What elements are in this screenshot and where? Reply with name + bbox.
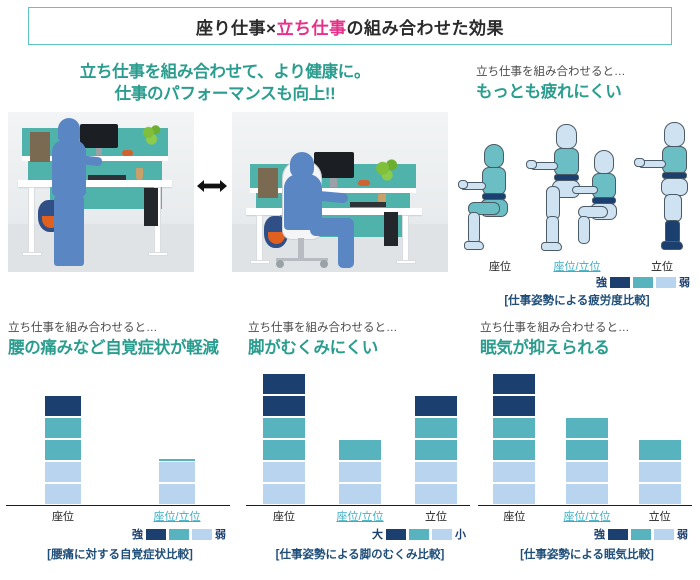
bar-segment [339, 462, 381, 484]
chart-sleepiness-axis [478, 505, 692, 507]
bar-segment [493, 440, 535, 462]
desk-leg-left [28, 187, 35, 255]
bar-segment [566, 484, 608, 506]
desk-foot-left [22, 252, 42, 256]
legend-high-label: 大 [372, 526, 383, 542]
mannequin-foot [541, 242, 562, 251]
legend-swatch-navy [386, 529, 406, 540]
bar-segment [415, 462, 457, 484]
page-title-suffix: の組み合わせた効果 [346, 19, 504, 38]
fatigue-legend-strong: 強 [596, 274, 607, 290]
fatigue-label-sitstand: 座位/立位 [536, 258, 618, 274]
mannequin-arm [572, 186, 598, 194]
legend-swatch-light [192, 529, 212, 540]
bar-segment [263, 418, 305, 440]
mannequin-head [484, 144, 504, 168]
hero-headline-line1: 立ち仕事を組み合わせて、より健康に。 [10, 62, 440, 84]
bar-column [339, 368, 381, 506]
chart-lowerback-legend: 強 弱 [132, 526, 226, 542]
chart-swelling-caption-wrap: [仕事姿勢による脚のむくみ比較] [246, 546, 474, 562]
mannequin-torso [662, 146, 687, 174]
chart-swelling-bars [246, 368, 474, 506]
bar-segment [263, 396, 305, 418]
chart-sleepiness: 立ち仕事を組み合わせると… 眠気が抑えられる 座位座位/立位立位 強 弱 [仕事… [478, 320, 696, 576]
fatigue-heading: 立ち仕事を組み合わせると… もっとも疲れにくい [476, 64, 696, 103]
legend-high-label: 強 [132, 526, 143, 542]
bar-segment [566, 418, 608, 440]
bar-column [566, 368, 608, 506]
chart-swelling-plot [246, 368, 474, 506]
sitting-desk-photo [232, 112, 448, 272]
legend-low-label: 弱 [215, 526, 226, 542]
mannequin-shin [468, 212, 480, 244]
chart-swelling-heading: 立ち仕事を組み合わせると… 脚がむくみにくい [248, 320, 476, 359]
mannequin-thigh [546, 186, 560, 220]
bar-axis-label: 立位 [625, 508, 695, 524]
chart-lowerback: 立ち仕事を組み合わせると… 腰の痛みなど自覚症状が軽減 座位座位/立位 強 弱 … [6, 320, 234, 576]
legend-low-label: 弱 [677, 526, 688, 542]
bar-segment [45, 462, 81, 484]
standing-person-legs [54, 194, 84, 266]
bar-column [159, 368, 195, 506]
bar-segment [566, 440, 608, 462]
legend-swatch-navy [608, 529, 628, 540]
standing-desk-photo [8, 112, 194, 272]
bar-axis-label: 座位/立位 [325, 508, 395, 524]
chart-sleepiness-title: 眠気が抑えられる [480, 337, 698, 359]
legend-swatch-teal [633, 277, 653, 288]
bar-segment [263, 462, 305, 484]
chart-sleepiness-bars [478, 368, 696, 506]
legend-low-label: 小 [455, 526, 466, 542]
fatigue-axis-labels: 座位 座位/立位 立位 [458, 258, 696, 274]
mannequin-foot [661, 241, 683, 250]
bar-axis-label: 座位 [479, 508, 549, 524]
chart-sleepiness-heading: 立ち仕事を組み合わせると… 眠気が抑えられる [480, 320, 698, 359]
legend-swatch-light [654, 529, 674, 540]
page-title-bar: 座り仕事×立ち仕事の組み合わせた効果 [28, 7, 672, 45]
plant [372, 156, 400, 184]
chart-lowerback-axis [6, 505, 230, 507]
bar-stack [339, 440, 381, 506]
decor-object [122, 150, 133, 156]
fatigue-label-sitting: 座位 [470, 258, 530, 274]
file-box [258, 168, 278, 198]
bar-segment [159, 484, 195, 506]
chart-swelling-caption: [仕事姿勢による脚のむくみ比較] [246, 546, 474, 562]
pc-tower [384, 212, 398, 246]
bar-segment [159, 462, 195, 484]
bar-segment [45, 396, 81, 418]
chart-lowerback-caption-wrap: [腰痛に対する自覚症状比較] [6, 546, 234, 562]
coffee-cup [136, 168, 143, 180]
legend-swatch-teal [169, 529, 189, 540]
mannequin-hand [526, 160, 537, 169]
fatigue-lead: 立ち仕事を組み合わせると… [476, 64, 696, 81]
chart-lowerback-caption: [腰痛に対する自覚症状比較] [6, 546, 234, 562]
bar-axis-label: 立位 [401, 508, 471, 524]
bar-stack [639, 440, 681, 506]
desk-foot-left [250, 260, 270, 264]
chart-swelling-ticks: 座位座位/立位立位 [246, 508, 474, 524]
desk-leg-left [256, 215, 263, 263]
bar-segment [45, 418, 81, 440]
legend-swatch-teal [631, 529, 651, 540]
fatigue-legend-weak: 弱 [679, 274, 690, 290]
bar-axis-label: 座位/立位 [142, 508, 212, 524]
mannequin-hand [634, 158, 645, 167]
mannequin-hand [458, 180, 468, 189]
chart-sleepiness-caption-wrap: [仕事姿勢による眠気比較] [478, 546, 696, 562]
mannequin-standing [648, 122, 700, 254]
legend-swatch-navy [610, 277, 630, 288]
legend-swatch-light [656, 277, 676, 288]
bar-segment [639, 484, 681, 506]
plant [138, 122, 164, 148]
bar-stack [415, 396, 457, 506]
mannequin-torso [482, 167, 506, 195]
keyboard [88, 175, 126, 180]
desk-foot-right [396, 260, 416, 264]
bar-segment [415, 440, 457, 462]
chair-pole [298, 238, 304, 258]
seated-person-shin [338, 228, 354, 268]
chart-swelling-lead: 立ち仕事を組み合わせると… [248, 320, 476, 337]
bar-segment [639, 440, 681, 462]
legend-high-label: 強 [594, 526, 605, 542]
chart-swelling-title: 脚がむくみにくい [248, 337, 476, 359]
bar-segment [493, 484, 535, 506]
fatigue-caption: [仕事姿勢による疲労度比較] [458, 292, 696, 308]
fatigue-title: もっとも疲れにくい [476, 81, 696, 103]
fatigue-caption-wrap: [仕事姿勢による疲労度比較] [458, 292, 696, 308]
pc-tower [144, 188, 158, 226]
monitor [80, 124, 118, 148]
chart-lowerback-lead: 立ち仕事を組み合わせると… [8, 320, 236, 337]
desk-leg-right [402, 215, 409, 263]
chart-swelling-axis [246, 505, 470, 507]
legend-swatch-teal [409, 529, 429, 540]
bar-column [639, 368, 681, 506]
bar-segment [493, 374, 535, 396]
bar-segment [339, 440, 381, 462]
bar-segment [493, 462, 535, 484]
bar-segment [415, 484, 457, 506]
bar-axis-label: 座位/立位 [552, 508, 622, 524]
page-title: 座り仕事×立ち仕事の組み合わせた効果 [196, 14, 504, 39]
bar-segment [415, 396, 457, 418]
bar-axis-label: 座位 [28, 508, 98, 524]
desk-foot-right [148, 252, 168, 256]
mannequin-foot [464, 241, 484, 250]
keyboard [350, 202, 386, 207]
monitor-stand [330, 178, 337, 187]
mannequin-head [556, 124, 577, 149]
page-title-prefix: 座り仕事× [196, 19, 276, 38]
standing-person-body [52, 140, 86, 196]
bar-segment [263, 374, 305, 396]
swap-arrow [196, 176, 228, 196]
bar-stack [45, 396, 81, 506]
fatigue-figure-stage [458, 112, 696, 254]
bar-segment [263, 440, 305, 462]
chart-lowerback-bars [6, 368, 234, 506]
fatigue-legend: 強 弱 [596, 274, 690, 290]
chair-caster-left [276, 260, 284, 268]
bar-column [493, 368, 535, 506]
decor-object [358, 180, 370, 186]
fatigue-label-standing: 立位 [634, 258, 690, 274]
chart-lowerback-heading: 立ち仕事を組み合わせると… 腰の痛みなど自覚症状が軽減 [8, 320, 236, 359]
page-title-accent: 立ち仕事 [276, 19, 346, 38]
chart-sleepiness-plot [478, 368, 696, 506]
legend-swatch-navy [146, 529, 166, 540]
chart-sleepiness-ticks: 座位座位/立位立位 [478, 508, 696, 524]
bar-segment [415, 418, 457, 440]
chair-caster-right [320, 260, 328, 268]
bar-stack [566, 418, 608, 506]
bar-axis-label: 座位 [249, 508, 319, 524]
chart-lowerback-ticks: 座位座位/立位 [6, 508, 234, 524]
bar-segment [45, 440, 81, 462]
file-box [30, 132, 50, 162]
chart-lowerback-title: 腰の痛みなど自覚症状が軽減 [8, 337, 236, 359]
mannequin-shin [578, 216, 590, 244]
floor [8, 224, 194, 272]
chart-sleepiness-lead: 立ち仕事を組み合わせると… [480, 320, 698, 337]
bar-segment [45, 484, 81, 506]
bar-segment [339, 484, 381, 506]
mannequin-sitstand-front [576, 150, 642, 254]
bar-segment [493, 418, 535, 440]
bar-stack [493, 374, 535, 506]
bar-segment [639, 462, 681, 484]
mannequin-seated [462, 144, 534, 254]
bar-column [263, 368, 305, 506]
monitor-stand [96, 148, 102, 155]
chart-lowerback-plot [6, 368, 234, 506]
bar-stack [263, 374, 305, 506]
chart-sleepiness-legend: 強 弱 [594, 526, 688, 542]
mannequin-thigh [664, 194, 682, 222]
bar-column [45, 368, 81, 506]
chart-swelling: 立ち仕事を組み合わせると… 脚がむくみにくい 座位座位/立位立位 大 小 [仕事… [246, 320, 474, 576]
bar-segment [263, 484, 305, 506]
bar-segment [493, 396, 535, 418]
hero-headline: 立ち仕事を組み合わせて、より健康に。 仕事のパフォーマンスも向上!! [10, 62, 440, 106]
mannequin-head [664, 122, 685, 147]
legend-swatch-light [432, 529, 452, 540]
bar-column [415, 368, 457, 506]
hero-headline-line2: 仕事のパフォーマンスも向上!! [10, 84, 440, 106]
bar-segment [566, 462, 608, 484]
bar-stack [159, 459, 195, 506]
mannequin-head [594, 150, 614, 174]
double-arrow-icon [196, 178, 228, 194]
chart-sleepiness-caption: [仕事姿勢による眠気比較] [478, 546, 696, 562]
chart-swelling-legend: 大 小 [372, 526, 466, 542]
desk-top [18, 180, 172, 187]
